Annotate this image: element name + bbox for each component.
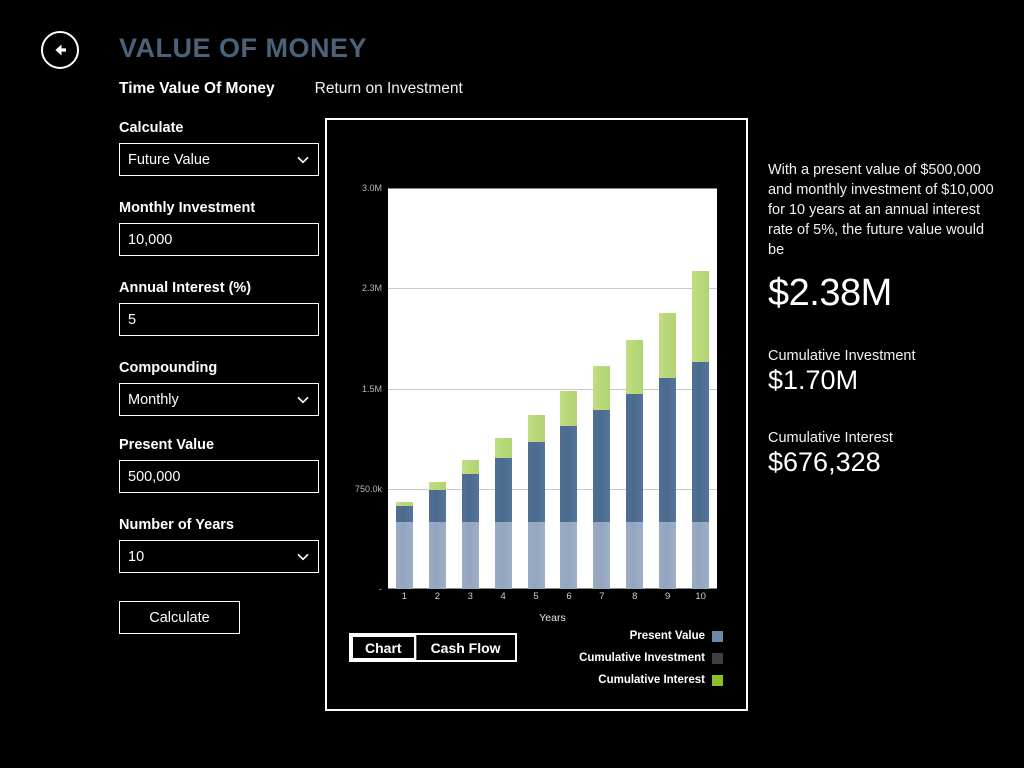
back-button[interactable] xyxy=(41,31,79,69)
bar-segment-cumulative-investment xyxy=(593,410,610,522)
bar-segment-cumulative-interest xyxy=(462,460,479,474)
bar-segment-cumulative-interest xyxy=(626,340,643,394)
chevron-down-icon xyxy=(296,550,310,564)
field-calculate-label: Calculate xyxy=(119,120,319,136)
bar-segment-present-value xyxy=(692,522,709,589)
field-present-value: Present Value 500,000 xyxy=(119,437,319,493)
cumulative-investment-block: Cumulative Investment $1.70M xyxy=(768,348,1000,396)
cumulative-interest-label: Cumulative Interest xyxy=(768,430,1000,446)
bar-slot xyxy=(388,188,421,589)
results-panel: With a present value of $500,000 and mon… xyxy=(768,160,1000,477)
cumulative-interest-value: $676,328 xyxy=(768,448,1000,478)
tab-return-on-investment[interactable]: Return on Investment xyxy=(315,80,463,98)
bar-segment-present-value xyxy=(593,522,610,589)
chart-x-axis-title: Years xyxy=(388,612,717,624)
stacked-bar[interactable] xyxy=(495,188,512,589)
bar-segment-cumulative-investment xyxy=(626,394,643,522)
stacked-bar[interactable] xyxy=(429,188,446,589)
chart-view-toggle: Chart Cash Flow xyxy=(349,633,517,662)
x-axis-tick-label: 4 xyxy=(487,591,520,602)
calculate-select-value: Future Value xyxy=(128,152,296,168)
tab-time-value-of-money[interactable]: Time Value Of Money xyxy=(119,80,275,98)
view-tab-cash-flow[interactable]: Cash Flow xyxy=(416,635,515,660)
x-axis-tick-label: 10 xyxy=(684,591,717,602)
chart-panel: 3.0M2.3M1.5M750.0k- 12345678910 Years Ch… xyxy=(325,118,748,711)
field-compounding: Compounding Monthly xyxy=(119,360,319,416)
bar-slot xyxy=(585,188,618,589)
bar-segment-cumulative-interest xyxy=(560,391,577,426)
legend-color-swatch xyxy=(712,653,723,664)
field-compounding-label: Compounding xyxy=(119,360,319,376)
field-monthly-investment: Monthly Investment 10,000 xyxy=(119,200,319,256)
stacked-bar[interactable] xyxy=(626,188,643,589)
compounding-select[interactable]: Monthly xyxy=(119,383,319,416)
bar-segment-cumulative-investment xyxy=(560,426,577,522)
field-annual-interest: Annual Interest (%) 5 xyxy=(119,280,319,336)
chart-bars xyxy=(388,188,717,589)
x-axis-tick-label: 2 xyxy=(421,591,454,602)
compounding-select-value: Monthly xyxy=(128,392,296,408)
bar-segment-present-value xyxy=(626,522,643,589)
legend-item-label: Present Value xyxy=(630,630,705,642)
bar-segment-cumulative-investment xyxy=(659,378,676,522)
legend-item-label: Cumulative Investment xyxy=(579,652,705,664)
number-of-years-value: 10 xyxy=(128,549,296,565)
y-axis-tick-label: 3.0M xyxy=(362,183,382,193)
field-number-of-years-label: Number of Years xyxy=(119,517,319,533)
present-value-value: 500,000 xyxy=(128,469,310,485)
bar-slot xyxy=(553,188,586,589)
chevron-down-icon xyxy=(296,153,310,167)
bar-slot xyxy=(454,188,487,589)
stacked-bar[interactable] xyxy=(692,188,709,589)
field-number-of-years: Number of Years 10 xyxy=(119,517,319,573)
bar-segment-cumulative-interest xyxy=(692,271,709,361)
field-monthly-investment-label: Monthly Investment xyxy=(119,200,319,216)
y-axis-tick-label: 1.5M xyxy=(362,384,382,394)
field-present-value-label: Present Value xyxy=(119,437,319,453)
x-axis-tick-label: 1 xyxy=(388,591,421,602)
bar-segment-cumulative-investment xyxy=(462,474,479,522)
x-axis-tick-label: 5 xyxy=(520,591,553,602)
monthly-investment-value: 10,000 xyxy=(128,232,310,248)
nav-tabs: Time Value Of Money Return on Investment xyxy=(119,80,463,98)
bar-segment-present-value xyxy=(528,522,545,589)
legend-item[interactable]: Present Value xyxy=(579,630,723,642)
bar-segment-cumulative-interest xyxy=(495,438,512,458)
bar-slot xyxy=(651,188,684,589)
future-value-amount: $2.38M xyxy=(768,274,1000,314)
bar-segment-cumulative-investment xyxy=(429,490,446,522)
chart-x-axis: 12345678910 xyxy=(388,591,717,602)
legend-color-swatch xyxy=(712,675,723,686)
bar-segment-cumulative-interest xyxy=(659,313,676,378)
x-axis-tick-label: 8 xyxy=(618,591,651,602)
cumulative-investment-label: Cumulative Investment xyxy=(768,348,1000,364)
legend-item-label: Cumulative Interest xyxy=(598,674,705,686)
bar-segment-present-value xyxy=(560,522,577,589)
chevron-down-icon xyxy=(296,393,310,407)
bar-segment-present-value xyxy=(396,522,413,589)
legend-item[interactable]: Cumulative Investment xyxy=(579,652,723,664)
chart-legend: Present ValueCumulative InvestmentCumula… xyxy=(579,630,723,696)
bar-segment-cumulative-investment xyxy=(692,362,709,522)
stacked-bar[interactable] xyxy=(659,188,676,589)
stacked-bar[interactable] xyxy=(593,188,610,589)
bar-segment-cumulative-investment xyxy=(528,442,545,522)
calculator-form: Calculate Future Value Monthly Investmen… xyxy=(119,120,319,634)
annual-interest-input[interactable]: 5 xyxy=(119,303,319,336)
bar-segment-cumulative-interest xyxy=(528,415,545,442)
x-axis-tick-label: 6 xyxy=(553,591,586,602)
bar-slot xyxy=(421,188,454,589)
cumulative-investment-value: $1.70M xyxy=(768,366,1000,396)
stacked-bar[interactable] xyxy=(396,188,413,589)
field-annual-interest-label: Annual Interest (%) xyxy=(119,280,319,296)
y-axis-tick-label: 750.0k xyxy=(355,484,382,494)
y-axis-tick-label: - xyxy=(379,584,382,594)
x-axis-tick-label: 3 xyxy=(454,591,487,602)
calculate-select[interactable]: Future Value xyxy=(119,143,319,176)
legend-item[interactable]: Cumulative Interest xyxy=(579,674,723,686)
annual-interest-value: 5 xyxy=(128,312,310,328)
bar-slot xyxy=(487,188,520,589)
calculate-button[interactable]: Calculate xyxy=(119,601,240,634)
monthly-investment-input[interactable]: 10,000 xyxy=(119,223,319,256)
number-of-years-select[interactable]: 10 xyxy=(119,540,319,573)
results-summary: With a present value of $500,000 and mon… xyxy=(768,160,1000,260)
bar-slot xyxy=(618,188,651,589)
back-arrow-icon xyxy=(50,40,70,60)
bar-slot xyxy=(684,188,717,589)
bar-slot xyxy=(520,188,553,589)
bar-segment-cumulative-interest xyxy=(429,482,446,490)
stacked-bar[interactable] xyxy=(528,188,545,589)
x-axis-tick-label: 7 xyxy=(585,591,618,602)
bar-segment-cumulative-investment xyxy=(396,506,413,522)
present-value-input[interactable]: 500,000 xyxy=(119,460,319,493)
x-axis-tick-label: 9 xyxy=(651,591,684,602)
app-root: VALUE OF MONEY Time Value Of Money Retur… xyxy=(0,0,1024,768)
bar-segment-present-value xyxy=(462,522,479,589)
chart-plot: 3.0M2.3M1.5M750.0k- xyxy=(388,188,717,589)
bar-segment-present-value xyxy=(429,522,446,589)
page-title: VALUE OF MONEY xyxy=(119,33,367,64)
field-calculate: Calculate Future Value xyxy=(119,120,319,176)
y-axis-tick-label: 2.3M xyxy=(362,283,382,293)
bar-segment-cumulative-investment xyxy=(495,458,512,522)
view-tab-chart[interactable]: Chart xyxy=(351,635,416,660)
bar-segment-present-value xyxy=(495,522,512,589)
bar-segment-present-value xyxy=(659,522,676,589)
stacked-bar[interactable] xyxy=(462,188,479,589)
bar-segment-cumulative-interest xyxy=(593,366,610,410)
legend-color-swatch xyxy=(712,631,723,642)
stacked-bar[interactable] xyxy=(560,188,577,589)
cumulative-interest-block: Cumulative Interest $676,328 xyxy=(768,430,1000,478)
